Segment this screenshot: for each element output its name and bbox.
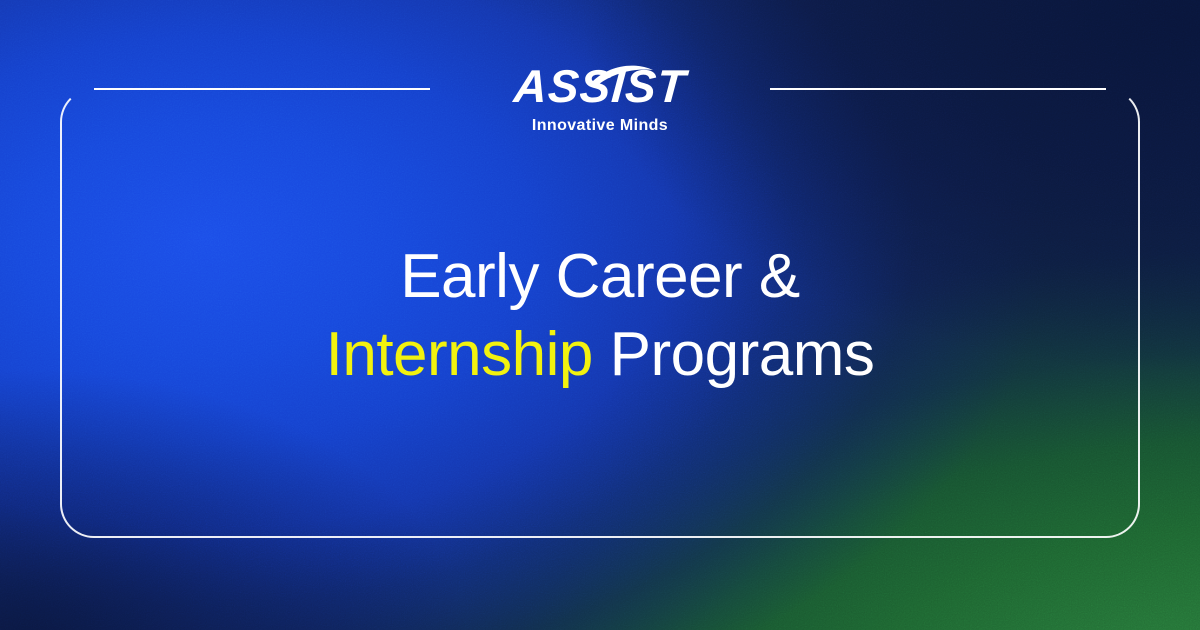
background-vignette [0,0,1200,630]
promo-banner: ASSIST Innovative Minds Early Career & I… [0,0,1200,630]
